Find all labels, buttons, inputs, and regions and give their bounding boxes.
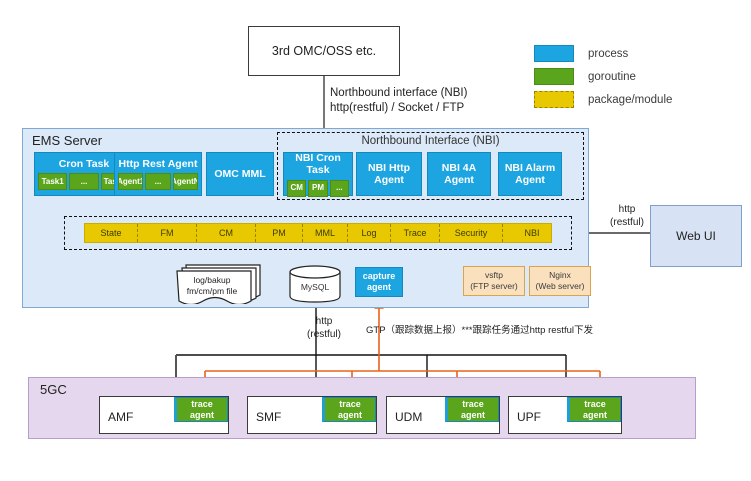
trace-agent-upf-line2: agent — [583, 410, 607, 421]
legend-item-package: package/module — [534, 88, 744, 111]
http-mid-line1: http — [298, 315, 350, 328]
nginx-line2: (Web server) — [536, 281, 585, 292]
nbi-note-line1: Northbound interface (NBI) — [330, 86, 540, 101]
goroutine-nbi-ellipsis: ... — [330, 180, 349, 197]
goroutine-task1: Task1 — [38, 173, 67, 190]
http-restful-label-right: http (restful) — [604, 203, 650, 233]
omc-oss-label: 3rd OMC/OSS etc. — [272, 44, 376, 58]
nbi-group-title: Northbound Interface (NBI) — [277, 134, 584, 148]
trace-agent-udm[interactable]: trace agent — [445, 397, 499, 422]
legend-label-package: package/module — [588, 94, 672, 106]
yellow-dashed-square-icon — [534, 91, 574, 108]
legend-item-process: process — [534, 42, 744, 65]
goroutine-agent1: Agent1 — [118, 173, 143, 190]
network-function-smf[interactable]: SMF trace agent — [247, 396, 377, 434]
web-ui-box[interactable]: Web UI — [650, 205, 742, 267]
process-nbi-cron-task-title: NBI Cron Task — [284, 149, 352, 177]
http-mid-line2: (restful) — [298, 328, 350, 341]
web-ui-label: Web UI — [676, 229, 716, 243]
package-trace[interactable]: Trace — [391, 224, 440, 242]
legend-label-goroutine: goroutine — [588, 71, 636, 83]
gtp-annotation: GTP（跟踪数据上报）***跟踪任务通过http restful下发 — [366, 322, 656, 338]
process-nbi-4a-agent-title: NBI 4A Agent — [428, 162, 490, 187]
capture-agent-box[interactable]: capture agent — [355, 267, 403, 297]
package-pm[interactable]: PM — [256, 224, 303, 242]
process-omc-mml[interactable]: OMC MML — [206, 152, 274, 196]
ems-server-title: EMS Server — [32, 133, 102, 148]
process-nbi-4a-agent[interactable]: NBI 4A Agent — [427, 152, 491, 196]
network-function-amf[interactable]: AMF trace agent — [99, 396, 229, 434]
package-fm[interactable]: FM — [138, 224, 197, 242]
http-right-line1: http — [604, 203, 650, 216]
http-right-line2: (restful) — [604, 216, 650, 229]
package-module-bar: State FM CM PM MML Log Trace Security NB… — [84, 223, 552, 243]
green-square-icon — [534, 68, 574, 85]
goroutine-task-ellipsis: ... — [69, 173, 98, 190]
trace-agent-upf-line1: trace — [584, 399, 606, 410]
trace-agent-smf-line1: trace — [339, 399, 361, 410]
package-cm[interactable]: CM — [197, 224, 256, 242]
capture-agent-line2: agent — [367, 282, 391, 293]
mysql-label: MySQL — [288, 282, 342, 292]
goroutine-agent-ellipsis: ... — [145, 173, 170, 190]
process-nbi-alarm-agent-title: NBI Alarm Agent — [499, 162, 561, 187]
network-function-upf[interactable]: UPF trace agent — [508, 396, 622, 434]
package-state[interactable]: State — [85, 224, 138, 242]
package-nbi[interactable]: NBI — [503, 224, 561, 242]
trace-agent-amf[interactable]: trace agent — [174, 397, 228, 422]
log-backup-files: log/bakup fm/cm/pm file — [172, 262, 262, 304]
network-function-udm-label: UDM — [395, 410, 422, 424]
process-omc-mml-title: OMC MML — [214, 168, 265, 181]
network-function-amf-label: AMF — [108, 410, 133, 424]
package-security[interactable]: Security — [440, 224, 503, 242]
http-restful-label-middle: http (restful) — [298, 315, 350, 345]
goroutine-agentn: AgentN — [173, 173, 198, 190]
goroutine-row-http-rest-agent: Agent1 ... AgentN — [115, 173, 201, 193]
trace-agent-udm-line1: trace — [462, 399, 484, 410]
process-http-rest-agent[interactable]: Http Rest Agent Agent1 ... AgentN — [114, 152, 202, 196]
trace-agent-amf-line2: agent — [190, 410, 214, 421]
nginx-line1: Nginx — [549, 270, 571, 281]
process-nbi-cron-task[interactable]: NBI Cron Task CM PM ... — [283, 152, 353, 196]
package-mml[interactable]: MML — [303, 224, 348, 242]
process-http-rest-agent-title: Http Rest Agent — [119, 155, 198, 171]
trace-agent-upf[interactable]: trace agent — [567, 397, 621, 422]
omc-oss-box: 3rd OMC/OSS etc. — [248, 26, 400, 76]
vsftp-line2: (FTP server) — [470, 281, 518, 292]
goroutine-nbi-pm: PM — [308, 180, 327, 197]
log-backup-line1: log/bakup — [176, 275, 248, 286]
trace-agent-smf[interactable]: trace agent — [322, 397, 376, 422]
network-function-smf-label: SMF — [256, 410, 281, 424]
process-cron-task-title: Cron Task — [59, 155, 110, 171]
northbound-interface-note: Northbound interface (NBI) http(restful)… — [330, 86, 540, 116]
trace-agent-udm-line2: agent — [461, 410, 485, 421]
process-nbi-alarm-agent[interactable]: NBI Alarm Agent — [498, 152, 562, 196]
vsftp-server-box: vsftp (FTP server) — [463, 266, 525, 296]
nginx-server-box: Nginx (Web server) — [529, 266, 591, 296]
legend-item-goroutine: goroutine — [534, 65, 744, 88]
trace-agent-amf-line1: trace — [191, 399, 213, 410]
log-backup-line2: fm/cm/pm file — [176, 286, 248, 297]
legend-label-process: process — [588, 48, 628, 60]
nbi-note-line2: http(restful) / Socket / FTP — [330, 101, 540, 116]
process-nbi-http-agent[interactable]: NBI Http Agent — [356, 152, 422, 196]
network-function-udm[interactable]: UDM trace agent — [386, 396, 500, 434]
vsftp-line1: vsftp — [485, 270, 503, 281]
goroutine-row-nbi-cron-task: CM PM ... — [284, 180, 352, 200]
blue-square-icon — [534, 45, 574, 62]
core-5gc-title: 5GC — [40, 382, 67, 397]
mysql-database: MySQL — [288, 265, 342, 303]
legend: process goroutine package/module — [534, 42, 744, 112]
network-function-upf-label: UPF — [517, 410, 541, 424]
capture-agent-line1: capture — [363, 271, 396, 282]
trace-agent-smf-line2: agent — [338, 410, 362, 421]
package-log[interactable]: Log — [348, 224, 391, 242]
goroutine-nbi-cm: CM — [287, 180, 306, 197]
process-nbi-http-agent-title: NBI Http Agent — [357, 162, 421, 187]
